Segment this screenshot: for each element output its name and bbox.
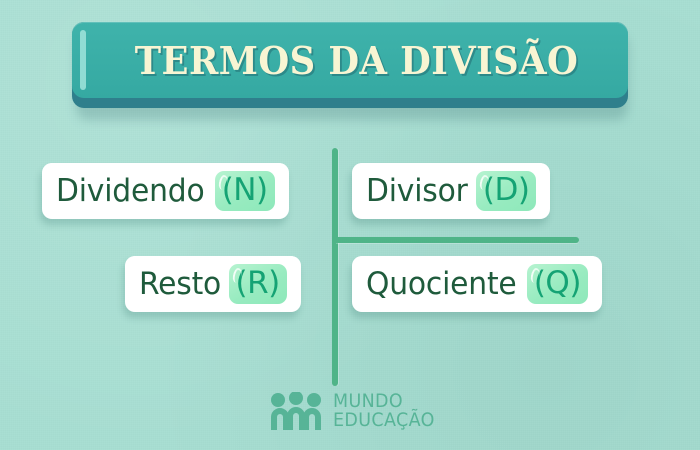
term-label-resto: Resto [139, 266, 221, 302]
infographic-canvas: TERMOS DA DIVISÃO Dividendo (N) Divisor … [0, 0, 700, 450]
term-card-quociente[interactable]: Quociente (Q) [352, 256, 602, 312]
term-label-divisor: Divisor [366, 173, 468, 209]
term-tag-divisor: (D) [476, 171, 537, 212]
term-label-dividendo: Dividendo [56, 173, 205, 209]
three-people-m-icon [268, 392, 324, 430]
term-card-divisor[interactable]: Divisor (D) [352, 163, 550, 219]
term-card-resto[interactable]: Resto (R) [125, 256, 301, 312]
term-card-dividendo[interactable]: Dividendo (N) [42, 163, 289, 219]
horizontal-divider [336, 237, 579, 243]
title-banner: TERMOS DA DIVISÃO [72, 22, 628, 108]
term-tag-dividendo: (N) [215, 171, 275, 212]
term-tag-quociente: (Q) [527, 264, 588, 305]
brand-logo: MUNDO EDUCAÇÃO [268, 392, 444, 430]
term-tag-resto: (R) [229, 264, 287, 305]
vertical-divider [332, 148, 338, 386]
term-label-quociente: Quociente [366, 266, 517, 302]
banner-left-highlight [80, 30, 86, 90]
page-title: TERMOS DA DIVISÃO [91, 22, 608, 98]
brand-logo-text: MUNDO EDUCAÇÃO [333, 392, 444, 429]
brand-logo-line-2: EDUCAÇÃO [333, 411, 435, 430]
